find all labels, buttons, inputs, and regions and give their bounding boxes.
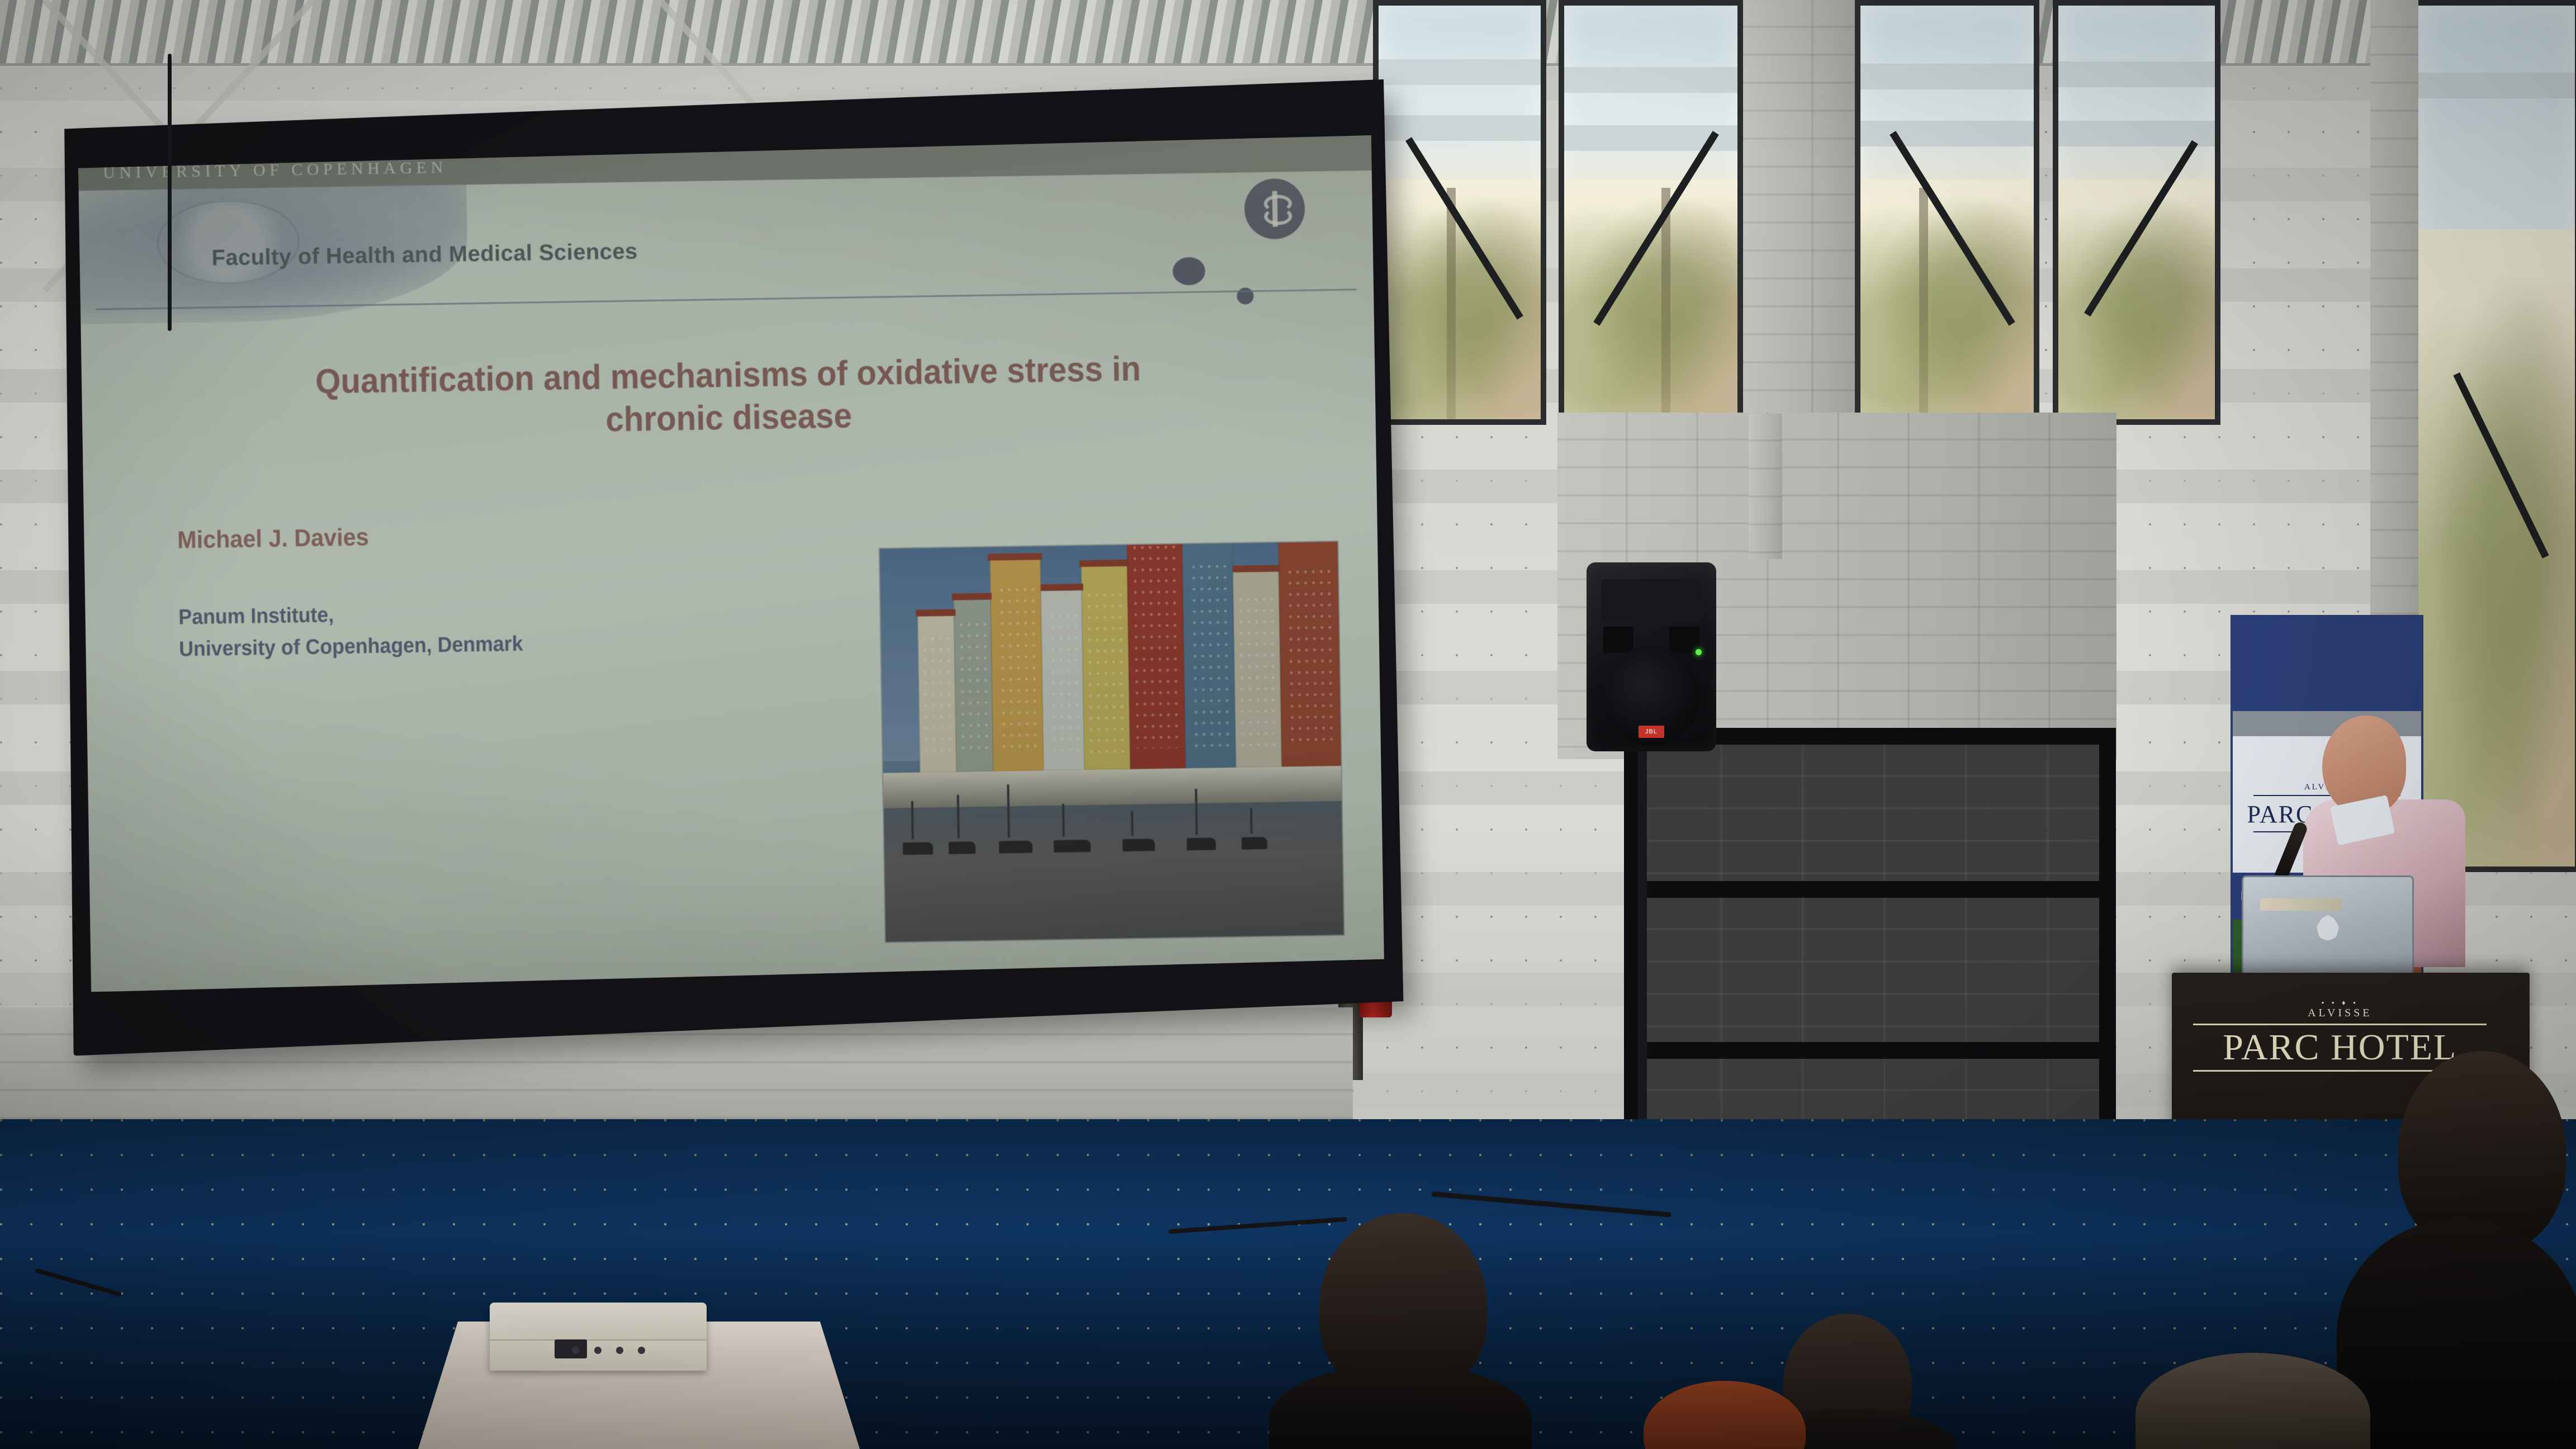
photo-boat xyxy=(1054,840,1091,853)
photo-boat xyxy=(1242,837,1267,850)
speaker-port-left xyxy=(1603,627,1633,653)
caduceus-rod xyxy=(1272,191,1278,226)
window-center-right xyxy=(1855,0,2039,425)
photo-boat-mast xyxy=(1062,804,1065,837)
projector-cable xyxy=(168,54,172,331)
audience-shoulders-4 xyxy=(2337,1219,2576,1449)
photo-boats xyxy=(880,542,1344,942)
screen-surface: UNIVERSITY OF COPENHAGEN Faculty of Heal… xyxy=(78,135,1385,992)
laptop-on-podium[interactable] xyxy=(2242,875,2414,976)
podium-rule-top xyxy=(2193,1024,2487,1025)
window-mullion xyxy=(1743,0,1855,436)
seal-dot-medium xyxy=(1172,257,1205,285)
banner-top-bar xyxy=(2233,617,2421,711)
podium-brand-main: PARC HOTEL xyxy=(2223,1029,2457,1066)
window-right xyxy=(2053,0,2220,425)
slide-affiliation: Panum Institute, University of Copenhage… xyxy=(178,596,523,666)
podium-brand-small: ALVISSE xyxy=(2308,1007,2372,1020)
slide-title: Quantification and mechanisms of oxidati… xyxy=(205,347,1252,448)
projector-table xyxy=(418,1303,860,1449)
photo-boat-mast xyxy=(1195,789,1197,835)
speaker-horn xyxy=(1601,579,1702,621)
photo-boat xyxy=(1186,838,1215,851)
slide-author: Michael J. Davies xyxy=(177,523,369,554)
wall-fin xyxy=(1749,414,1782,559)
presentation-slide: UNIVERSITY OF COPENHAGEN Faculty of Heal… xyxy=(78,135,1385,992)
photo-boat xyxy=(903,842,933,855)
jbl-logo: JBL xyxy=(1639,726,1664,738)
photo-boat xyxy=(999,841,1033,854)
projector-io-ports xyxy=(572,1347,671,1356)
ucph-seal-icon xyxy=(1244,178,1306,240)
slide-affiliation-line-1: Panum Institute, xyxy=(178,596,523,634)
window-center-left xyxy=(1559,0,1743,425)
photo-boat xyxy=(1123,839,1155,852)
photo-boat-mast xyxy=(1131,811,1134,836)
projection-screen: UNIVERSITY OF COPENHAGEN Faculty of Heal… xyxy=(59,73,1404,1055)
photo-boat-mast xyxy=(957,795,960,839)
photo-boat-mast xyxy=(1250,808,1253,834)
power-led-icon xyxy=(1696,649,1702,655)
podium-star-dots: • • ♦ • xyxy=(2322,998,2359,1007)
window-left xyxy=(1373,0,1546,425)
slide-affiliation-line-2: University of Copenhagen, Denmark xyxy=(179,628,523,666)
presentation-scene: JBL ALVISSE PARC HOTEL Besoin d'une déte… xyxy=(0,0,2576,1449)
pa-speaker: JBL xyxy=(1587,562,1716,751)
video-projector xyxy=(490,1303,707,1371)
photo-boat-mast xyxy=(1007,785,1010,838)
mic-bar xyxy=(2260,898,2341,911)
speaker-port-right xyxy=(1669,627,1699,653)
photo-boat-mast xyxy=(911,801,914,839)
photo-boat xyxy=(949,842,976,855)
apple-logo-icon xyxy=(2317,915,2339,940)
nyhavn-photo xyxy=(880,542,1344,942)
